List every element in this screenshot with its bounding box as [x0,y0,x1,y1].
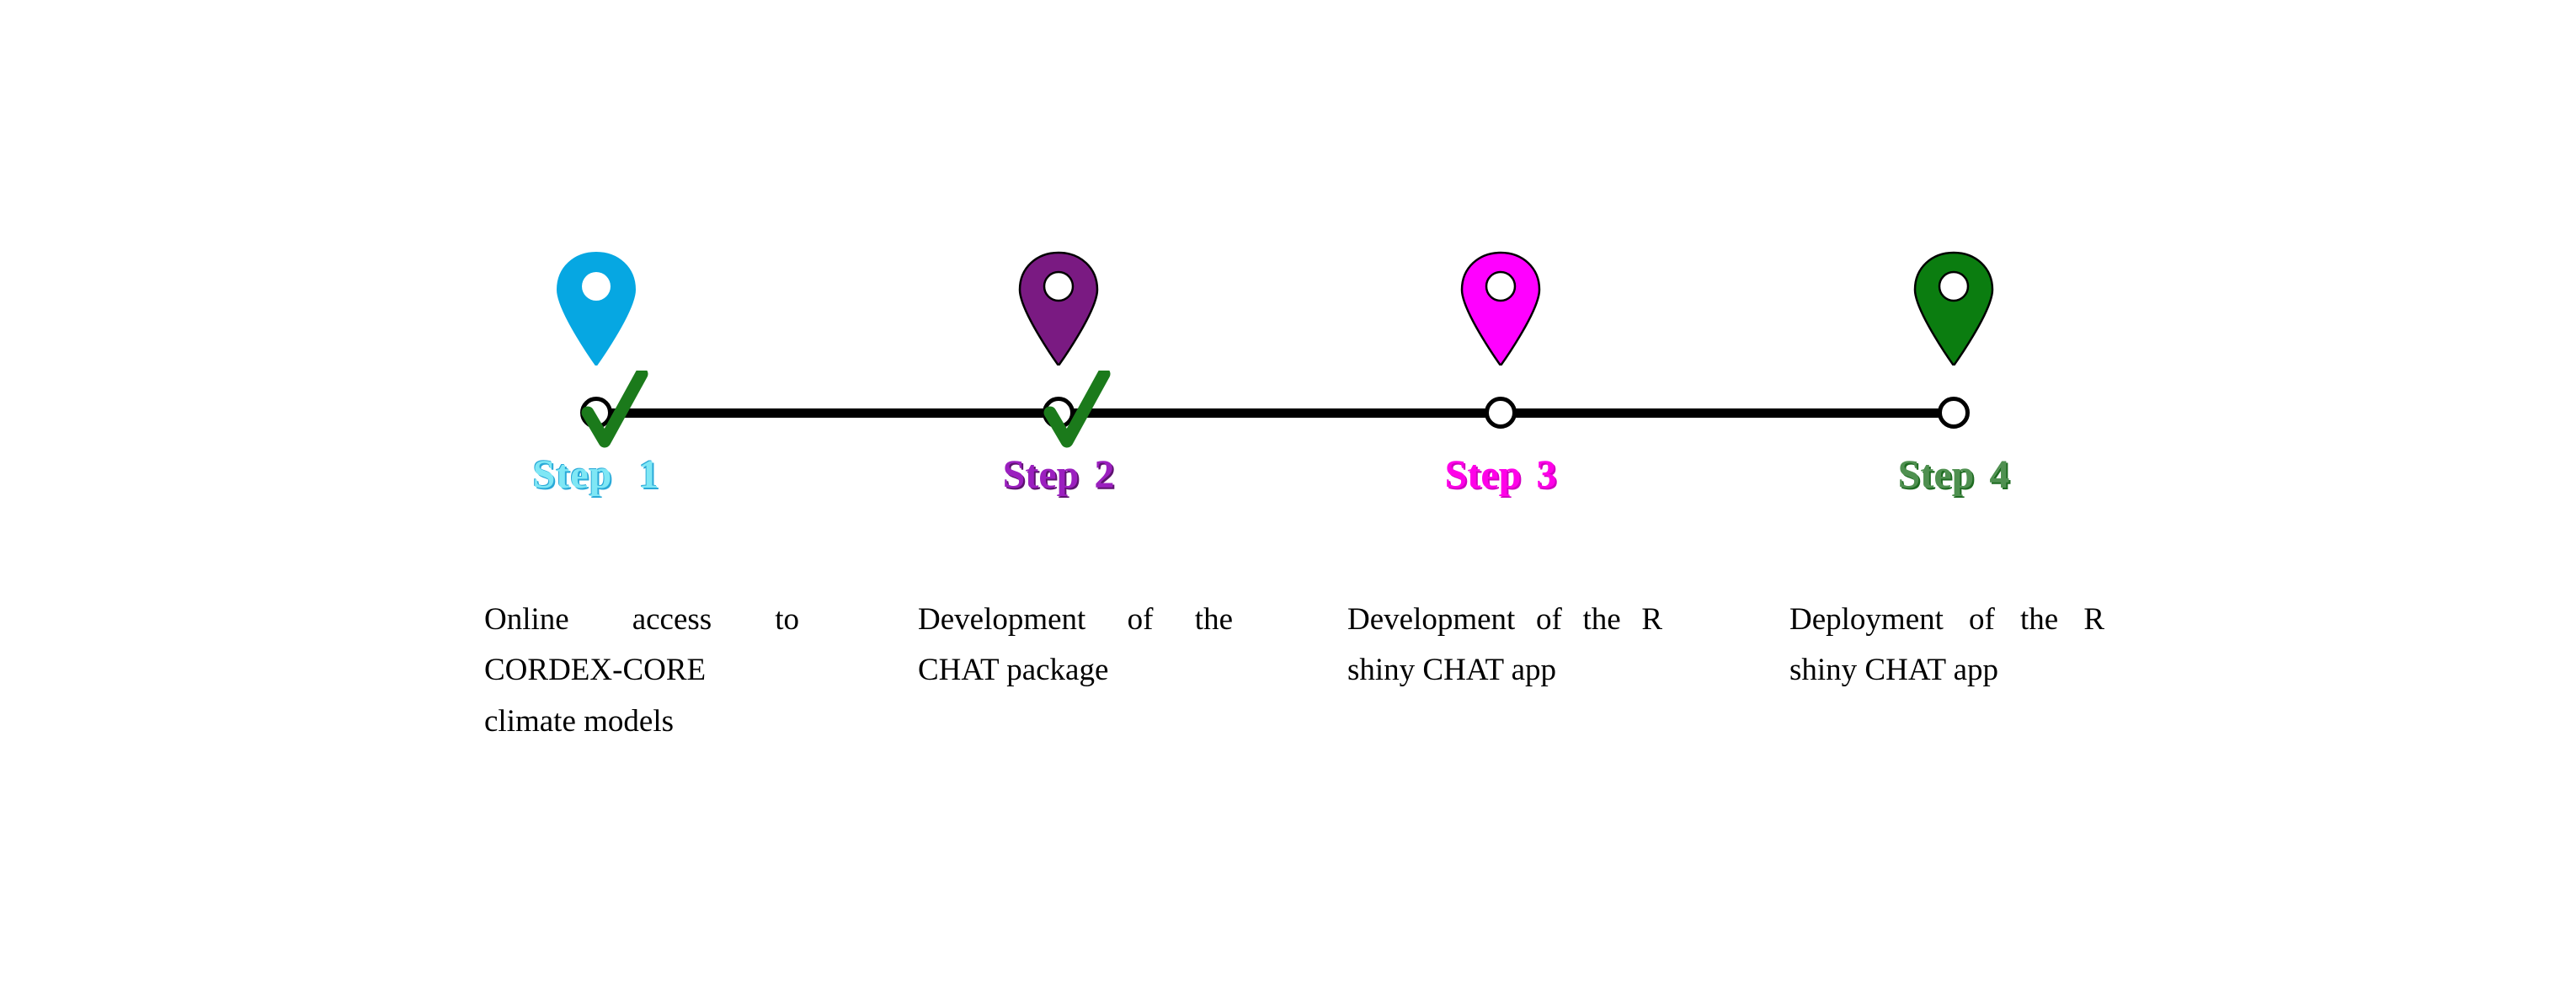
step-label: Step 4 [1785,455,2122,495]
timeline-rail-segment-1-2 [596,408,1059,418]
map-pin-icon [554,251,638,366]
step-caption: Deployment of the R shiny CHAT app [1789,595,2104,696]
timeline-rail-segment-2-3 [1059,408,1501,418]
step-caption: Online access to CORDEX-CORE climate mod… [484,595,799,747]
map-pin-icon [1459,251,1543,366]
timeline-node [1043,397,1075,429]
timeline-node [1938,397,1970,429]
timeline-figure: Step 1 Online access to CORDEX-CORE clim… [0,0,2576,998]
step-label: Step 2 [890,455,1227,495]
timeline-node [1485,397,1517,429]
timeline-node [580,397,612,429]
map-pin-icon [1912,251,1996,366]
step-caption: Development of the R shiny CHAT app [1347,595,1662,696]
timeline-rail-segment-3-4 [1501,408,1954,418]
step-label: Step 3 [1332,455,1669,495]
step-caption: Development of the CHAT package [918,595,1233,696]
step-label: Step 1 [428,455,765,495]
map-pin-icon [1016,251,1101,366]
